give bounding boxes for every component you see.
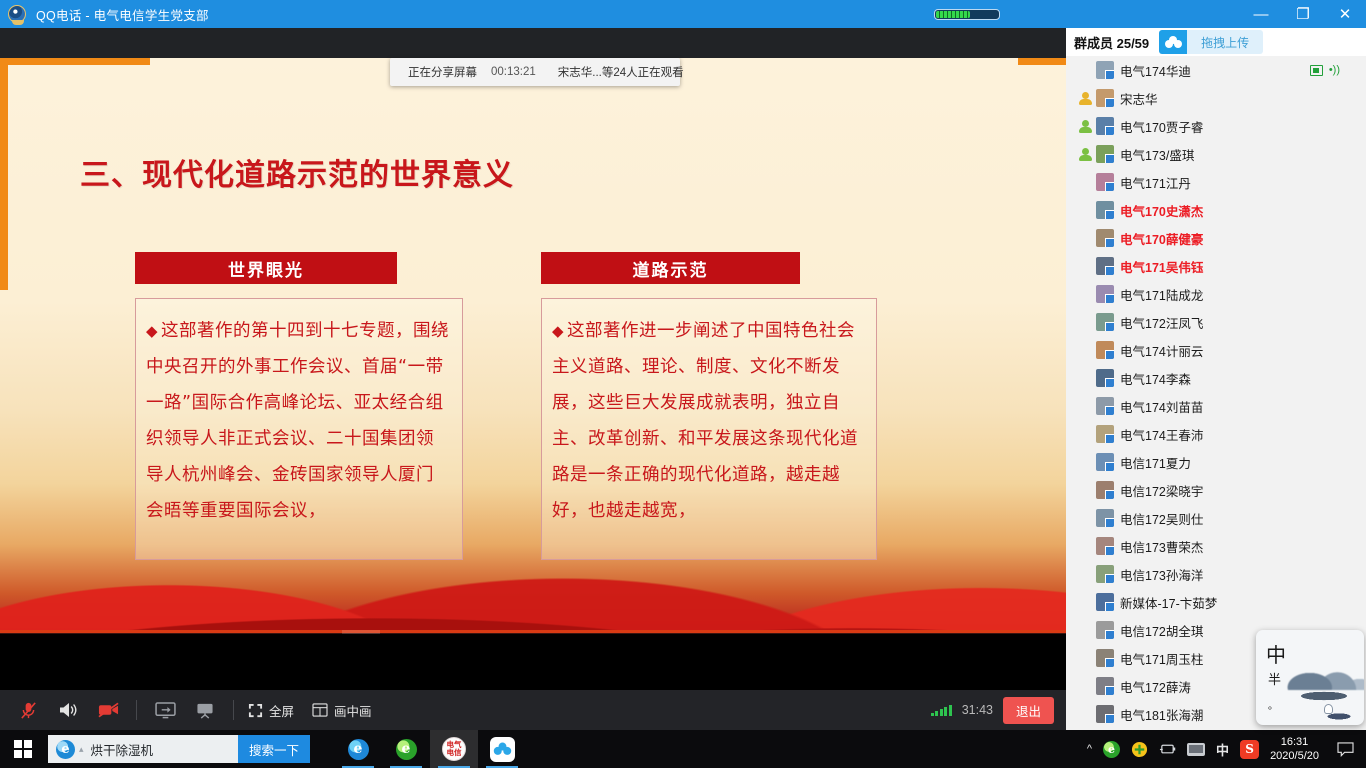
member-name: 电信173孙海洋	[1120, 565, 1203, 584]
members-panel-header: 群成员 25/59 拖拽上传	[1066, 28, 1366, 56]
picture-in-picture-icon	[312, 703, 328, 717]
member-row[interactable]: 电信173孙海洋	[1066, 560, 1366, 588]
member-row[interactable]: 电气174计丽云	[1066, 336, 1366, 364]
pip-button[interactable]: 画中画	[312, 701, 372, 720]
window-title: QQ电话 - 电气电信学生党支部	[36, 5, 209, 24]
presentation-slide: 三、现代化道路示范的世界意义 世界眼光 道路示范 ◆这部著作的第十四到十七专题，…	[0, 58, 1066, 634]
member-row[interactable]: 电气172汪凤飞	[1066, 308, 1366, 336]
battery-indicator	[934, 9, 1000, 20]
thumbnail-boat	[1320, 708, 1358, 720]
thumbnail-caption-mark: 。	[1268, 694, 1286, 720]
mic-toggle-button[interactable]	[8, 690, 48, 730]
member-name: 宋志华	[1120, 89, 1158, 108]
member-row[interactable]: 宋志华	[1066, 84, 1366, 112]
member-row[interactable]: 电信172梁晓宇	[1066, 476, 1366, 504]
drag-upload-button[interactable]: 拖拽上传	[1187, 30, 1263, 54]
member-name: 电信172胡全琪	[1120, 621, 1203, 640]
maximize-button[interactable]: ❐	[1282, 0, 1324, 28]
close-button[interactable]: ✕	[1324, 0, 1366, 28]
member-row[interactable]: 电信173曹荣杰	[1066, 532, 1366, 560]
tray-chevron-up-icon[interactable]: ^	[1087, 743, 1092, 755]
member-name: 电气170薛健豪	[1120, 229, 1203, 248]
system-tray[interactable]: ^ e 中 S 16:31 2020/5/20	[1087, 730, 1360, 768]
member-name: 电气174李森	[1120, 369, 1191, 388]
taskbar-app-ie360[interactable]: e	[382, 730, 430, 768]
member-avatar	[1096, 649, 1114, 667]
taskbar-clock-time: 16:31	[1270, 735, 1319, 749]
member-avatar	[1096, 425, 1114, 443]
fullscreen-icon	[248, 703, 263, 718]
notification-icon	[1337, 742, 1354, 757]
inner-wechat-icon[interactable]	[304, 630, 342, 634]
member-name: 电气171吴伟钰	[1120, 257, 1203, 276]
member-avatar	[1096, 397, 1114, 415]
member-avatar	[1096, 565, 1114, 583]
member-avatar	[1096, 61, 1114, 79]
bullet-marker-icon-2: ◆	[552, 322, 564, 340]
member-row[interactable]: 电气174王春沛	[1066, 420, 1366, 448]
member-name: 电气173/盛琪	[1120, 145, 1194, 164]
slide-mountain-decoration-back	[0, 556, 1066, 634]
inner-action-center-button[interactable]	[800, 630, 838, 634]
member-status-icons: •))	[1310, 64, 1340, 76]
member-avatar	[1096, 509, 1114, 527]
member-row[interactable]: 电气170薛健豪	[1066, 224, 1366, 252]
microphone-muted-icon	[19, 701, 38, 720]
search-submit-button[interactable]: 搜索一下	[238, 735, 310, 763]
member-avatar	[1096, 229, 1114, 247]
share-viewers-text: 宋志华...等24人正在观看	[558, 64, 684, 80]
whiteboard-button[interactable]	[185, 690, 225, 730]
member-row[interactable]: 电气171陆成龙	[1066, 280, 1366, 308]
member-avatar	[1096, 369, 1114, 387]
windows-taskbar[interactable]: e ▴ 烘干除湿机 搜索一下 e e 电气电信 ^ e	[0, 730, 1366, 768]
tray-sogou-icon[interactable]: S	[1240, 740, 1259, 759]
member-avatar	[1096, 677, 1114, 695]
speaker-on-icon	[58, 701, 78, 719]
notification-button[interactable]	[1330, 730, 1360, 768]
slide-top-accent-left	[0, 58, 150, 65]
thumbnail-caption: 中 半 。	[1266, 642, 1286, 720]
member-avatar	[1096, 537, 1114, 555]
search-engine-caret-icon[interactable]: ▴	[79, 744, 84, 755]
taskbar-search-box[interactable]: e ▴ 烘干除湿机	[48, 735, 238, 763]
thumbnail-caption-main: 中	[1266, 643, 1286, 667]
dianqi-dianxin-icon: 电气电信	[442, 737, 466, 761]
member-row[interactable]: 电气170贾子睿	[1066, 112, 1366, 140]
member-name: 电信171夏力	[1120, 453, 1191, 472]
share-elapsed-time: 00:13:21	[491, 66, 536, 78]
member-avatar	[1096, 593, 1114, 611]
tray-360-safe-icon[interactable]	[1131, 741, 1148, 758]
self-video-thumbnail[interactable]: 中 半 。	[1256, 630, 1364, 725]
camera-muted-icon	[98, 702, 119, 718]
thumbnail-shore	[1286, 689, 1362, 703]
tray-display-icon[interactable]	[1187, 743, 1205, 756]
slide-title: 三、现代化道路示范的世界意义	[80, 150, 514, 194]
edge-icon: e	[348, 739, 369, 760]
inner-edge-icon[interactable]: e	[266, 630, 304, 634]
inner-dianqi-icon[interactable]: 电气电信	[380, 630, 418, 634]
share-status-text: 正在分享屏幕	[408, 64, 477, 80]
member-name: 电信172梁晓宇	[1120, 481, 1203, 500]
start-button[interactable]	[0, 730, 46, 768]
member-mic-indicator	[1074, 120, 1096, 133]
control-divider-1	[136, 700, 137, 720]
member-name: 电气170史潇杰	[1120, 201, 1203, 220]
share-screen-button[interactable]	[145, 690, 185, 730]
member-avatar	[1096, 453, 1114, 471]
tray-battery-icon[interactable]	[1159, 743, 1176, 756]
minimize-button[interactable]: —	[1240, 0, 1282, 28]
member-row[interactable]: 电信171夏力	[1066, 448, 1366, 476]
fullscreen-button[interactable]: 全屏	[248, 701, 294, 720]
inner-mail-icon[interactable]	[152, 630, 190, 634]
member-name: 电气174刘苗苗	[1120, 397, 1203, 416]
member-name: 电气172薛涛	[1120, 677, 1191, 696]
windows-start-icon	[14, 740, 33, 759]
member-row[interactable]: 新媒体-17-卞茹梦	[1066, 588, 1366, 616]
tray-ime-chinese-icon[interactable]: 中	[1216, 740, 1229, 759]
slide-banner-2: 道路示范	[541, 252, 800, 284]
whiteboard-icon	[195, 702, 215, 719]
inner-task-view-icon[interactable]	[114, 630, 152, 634]
member-speaker-icon: •))	[1329, 64, 1340, 76]
member-row[interactable]: 电气171江丹	[1066, 168, 1366, 196]
member-avatar	[1096, 341, 1114, 359]
thumbnail-caption-sub: 半	[1268, 668, 1286, 694]
taskbar-clock[interactable]: 16:31 2020/5/20	[1270, 735, 1319, 763]
inner-start-button[interactable]	[0, 630, 38, 634]
member-avatar	[1096, 481, 1114, 499]
taskbar-app-weiyun[interactable]	[478, 730, 526, 768]
slide-top-accent-right	[1018, 58, 1066, 65]
shared-screen-stage[interactable]: 三、现代化道路示范的世界意义 世界眼光 道路示范 ◆这部著作的第十四到十七专题，…	[0, 28, 1066, 634]
tray-ie-icon[interactable]: e	[1103, 741, 1120, 758]
search-input-value: 烘干除湿机	[91, 740, 154, 759]
member-name: 电气172汪凤飞	[1120, 313, 1203, 332]
call-control-bar[interactable]: 全屏 画中画 31:43 退出	[0, 690, 1066, 730]
inner-cortana-icon[interactable]	[76, 630, 114, 634]
member-name: 电气171江丹	[1120, 173, 1191, 192]
member-name: 电气181张海潮	[1120, 705, 1203, 724]
exit-call-button[interactable]: 退出	[1003, 697, 1054, 724]
member-name: 电气170贾子睿	[1120, 117, 1203, 136]
member-name: 电气174计丽云	[1120, 341, 1203, 360]
member-name: 电气174华迪	[1120, 61, 1191, 80]
inner-file-explorer-icon[interactable]	[190, 630, 228, 634]
speaking-person-icon	[1079, 120, 1092, 133]
ie-icon: e	[56, 740, 75, 759]
share-screen-icon	[155, 702, 176, 719]
camera-toggle-button[interactable]	[88, 690, 128, 730]
member-avatar	[1096, 621, 1114, 639]
qq-camera-icon	[8, 5, 26, 23]
member-sharing-screen-icon	[1310, 65, 1323, 76]
member-mic-indicator	[1074, 148, 1096, 161]
slide-banner-1: 世界眼光	[135, 252, 397, 284]
member-row[interactable]: 电气174李森	[1066, 364, 1366, 392]
weiyun-icon	[490, 737, 515, 762]
call-duration: 31:43	[962, 703, 993, 717]
member-row[interactable]: 电气174刘苗苗	[1066, 392, 1366, 420]
weiyun-cloud-button[interactable]	[1159, 30, 1187, 54]
member-name: 新媒体-17-卞茹梦	[1120, 593, 1217, 612]
speaking-person-icon	[1079, 148, 1092, 161]
member-row[interactable]: 电气171吴伟钰	[1066, 252, 1366, 280]
shared-windows-taskbar[interactable]: W e P 电气电信 地址 ▾ ↻	[0, 630, 1066, 634]
call-status-group: 31:43 退出	[931, 697, 1054, 724]
member-avatar	[1096, 285, 1114, 303]
speaking-person-icon	[1079, 92, 1092, 105]
fullscreen-label: 全屏	[269, 701, 294, 720]
member-mic-indicator	[1074, 92, 1096, 105]
slide-left-accent	[0, 58, 8, 290]
member-avatar	[1096, 145, 1114, 163]
member-avatar	[1096, 89, 1114, 107]
member-name: 电信172吴则仕	[1120, 509, 1203, 528]
member-row[interactable]: 电气170史潇杰	[1066, 196, 1366, 224]
member-avatar	[1096, 313, 1114, 331]
screen-share-notice: 正在分享屏幕 00:13:21 宋志华...等24人正在观看	[390, 58, 680, 86]
taskbar-clock-date: 2020/5/20	[1270, 749, 1319, 763]
member-name: 电气171陆成龙	[1120, 285, 1203, 304]
window-title-bar[interactable]: QQ电话 - 电气电信学生党支部 — ❐ ✕	[0, 0, 1366, 28]
inner-search-icon[interactable]	[38, 630, 76, 634]
member-name: 电信173曹荣杰	[1120, 537, 1203, 556]
member-avatar	[1096, 173, 1114, 191]
bullet-marker-icon: ◆	[146, 322, 158, 340]
taskbar-app-edge[interactable]: e	[334, 730, 382, 768]
speaker-toggle-button[interactable]	[48, 690, 88, 730]
member-row[interactable]: 电气174华迪•))	[1066, 56, 1366, 84]
member-row[interactable]: 电信172吴则仕	[1066, 504, 1366, 532]
weiyun-cloud-glyph	[493, 742, 512, 756]
inner-word-icon[interactable]: W	[228, 630, 266, 634]
member-row[interactable]: 电气173/盛琪	[1066, 140, 1366, 168]
tencent-weiyun-icon	[1165, 36, 1182, 48]
pip-label: 画中画	[334, 701, 372, 720]
control-divider-2	[233, 700, 234, 720]
member-name: 电气171周玉柱	[1120, 649, 1203, 668]
member-avatar	[1096, 201, 1114, 219]
member-avatar	[1096, 257, 1114, 275]
inner-powerpoint-icon[interactable]: P	[342, 630, 380, 634]
members-count-title: 群成员 25/59	[1074, 33, 1149, 52]
member-avatar	[1096, 705, 1114, 723]
signal-strength-icon	[931, 704, 952, 716]
taskbar-app-dianqi-dianxin[interactable]: 电气电信	[430, 730, 478, 768]
member-avatar	[1096, 117, 1114, 135]
ie-360-icon: e	[396, 739, 417, 760]
thumbnail-mountains	[1284, 636, 1364, 690]
member-name: 电气174王春沛	[1120, 425, 1203, 444]
